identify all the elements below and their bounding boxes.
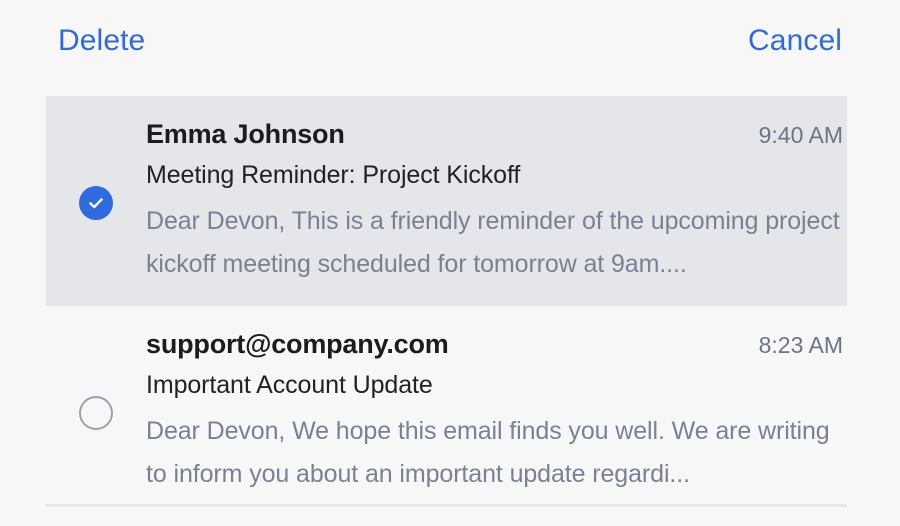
email-timestamp: 8:23 AM: [759, 332, 843, 360]
checkbox-cell[interactable]: [46, 328, 146, 496]
email-sender: support@company.com: [146, 328, 449, 361]
email-header-line: support@company.com 8:23 AM: [146, 328, 843, 361]
email-subject: Meeting Reminder: Project Kickoff: [146, 160, 843, 190]
checkbox-cell[interactable]: [46, 118, 146, 286]
email-subject: Important Account Update: [146, 370, 843, 400]
email-selection-screen: Delete Cancel Emma Johnson 9:40 AM Meeti…: [0, 0, 900, 526]
circle-outline-icon[interactable]: [79, 396, 113, 430]
email-content: support@company.com 8:23 AM Important Ac…: [146, 328, 847, 496]
email-timestamp: 9:40 AM: [759, 122, 843, 150]
email-preview: Dear Devon, We hope this email finds you…: [146, 410, 843, 496]
list-bottom-divider: [46, 504, 847, 507]
delete-button[interactable]: Delete: [58, 26, 145, 56]
toolbar: Delete Cancel: [0, 0, 900, 82]
email-row[interactable]: Emma Johnson 9:40 AM Meeting Reminder: P…: [46, 96, 847, 306]
check-circle-filled-icon[interactable]: [79, 186, 113, 220]
cancel-button[interactable]: Cancel: [748, 26, 842, 56]
email-preview: Dear Devon, This is a friendly reminder …: [146, 200, 843, 286]
email-sender: Emma Johnson: [146, 118, 345, 151]
email-list: Emma Johnson 9:40 AM Meeting Reminder: P…: [0, 96, 900, 516]
email-content: Emma Johnson 9:40 AM Meeting Reminder: P…: [146, 118, 847, 286]
email-row[interactable]: support@company.com 8:23 AM Important Ac…: [46, 306, 847, 516]
email-header-line: Emma Johnson 9:40 AM: [146, 118, 843, 151]
